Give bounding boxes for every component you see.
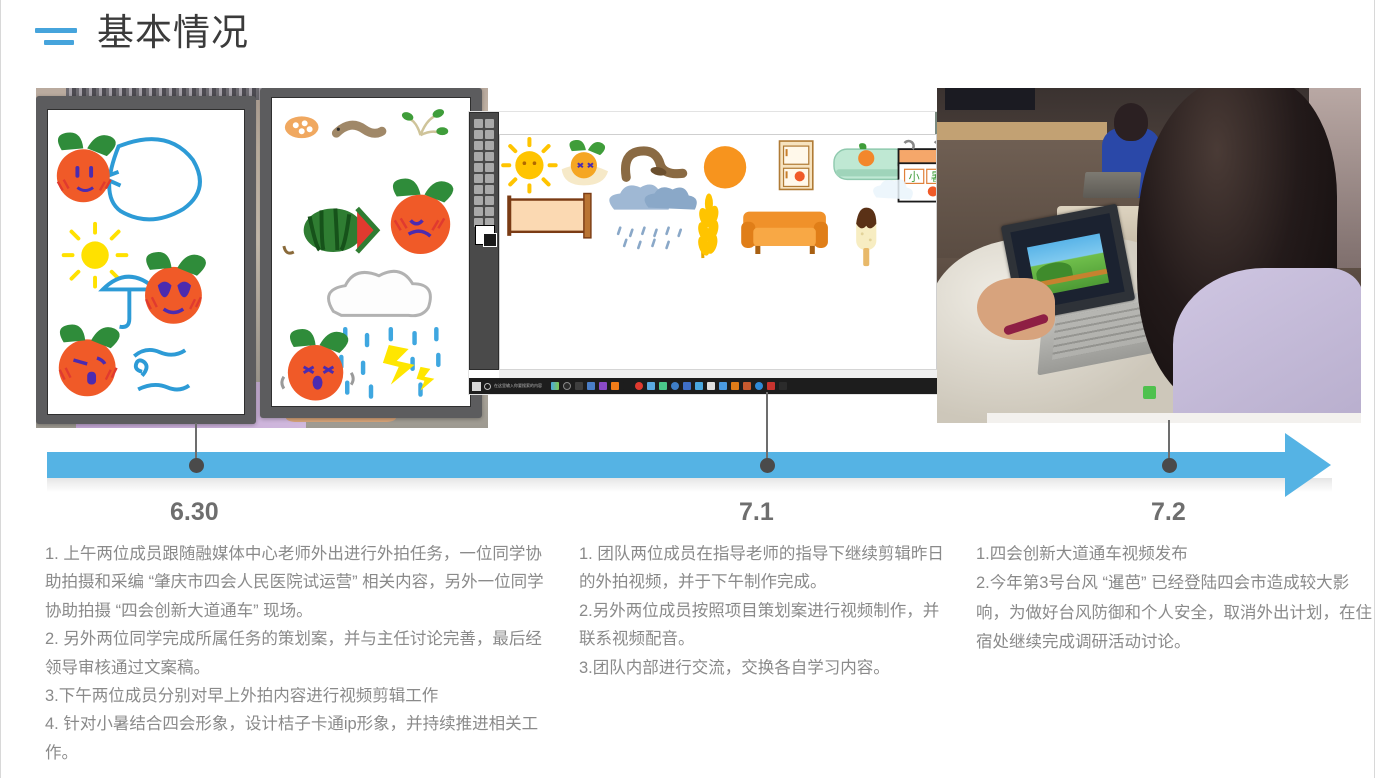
app-icon-record[interactable] [635,382,643,390]
app-status-bar [499,369,937,378]
column-line: 4. 针对小暑结合四会形象，设计桔子卡通ip形象，并持续推进相关工作。 [45,710,557,767]
taskbar-search-placeholder: 在这里输入你要搜索的内容 [494,383,542,389]
taskbar-icons[interactable] [551,382,787,390]
app-icon-media[interactable] [731,382,739,390]
dorm-video-editing-photo [937,88,1361,423]
column-line: 3.下午两位成员分别对早上外拍内容进行视频剪辑工作 [45,682,557,710]
app-icon-mail[interactable] [695,382,703,390]
column-7-2: 7.2 1.四会创新大道通车视频发布 2.今年第3号台风 “暹芭” 已经登陆四会… [976,498,1374,657]
app-icon-word[interactable] [767,382,775,390]
column-body: 1. 上午两位成员跟随融媒体中心老师外出进行外拍任务，一位同学协助拍摄和采编 “… [45,540,557,767]
timeline-stem-1 [195,423,197,465]
column-body: 1.四会创新大道通车视频发布 2.今年第3号台风 “暹芭” 已经登陆四会市造成较… [976,540,1374,657]
column-date-label: 6.30 [45,498,557,527]
media-strip: 小 暑 [1,82,1375,427]
app-icon-cortana[interactable] [563,382,571,390]
timeline-bar [47,452,1287,478]
tablet-illustration-photo [36,88,488,428]
column-7-1: 7.1 1. 团队两位成员在指导老师的指导下继续剪辑昨日的外拍视频，并于下午制作… [579,498,945,682]
column-body: 1. 团队两位成员在指导老师的指导下继续剪辑昨日的外拍视频，并于下午制作完成。 … [579,540,945,682]
column-line: 1. 团队两位成员在指导老师的指导下继续剪辑昨日的外拍视频，并于下午制作完成。 [579,540,945,597]
search-icon [484,383,491,390]
app-icon-taskview[interactable] [575,382,583,390]
slide-page: 基本情况 [0,0,1375,778]
app-icon-y[interactable] [623,382,631,390]
app-icon-editor[interactable] [611,382,619,390]
column-line: 2. 另外两位同学完成所属任务的策划案，并与主任讨论完善，最后经领导审核通过文案… [45,625,557,682]
start-button-icon[interactable] [472,382,481,391]
svg-text:小: 小 [909,170,920,183]
timeline-dot-1[interactable] [189,458,204,473]
app-icon-store[interactable] [599,382,607,390]
page-header: 基本情况 [35,14,249,51]
app-icon-notes[interactable] [719,382,727,390]
graphics-software-screenshot: 小 暑 [469,112,939,394]
app-icon-calendar[interactable] [707,382,715,390]
column-date-label: 7.2 [976,498,1374,527]
app-icon-tool[interactable] [743,382,751,390]
column-line: 2.今年第3号台风 “暹芭” 已经登陆四会市造成较大影响，为做好台风防御和个人安… [976,569,1374,657]
app-icon-social[interactable] [683,382,691,390]
illustration-canvas-left [48,110,244,414]
app-icon-green[interactable] [659,382,667,390]
timeline-arrow-head-icon [1285,433,1331,497]
column-6-30: 6.30 1. 上午两位成员跟随融媒体中心老师外出进行外拍任务，一位同学协助拍摄… [45,498,557,767]
timeline-dot-3[interactable] [1162,458,1177,473]
canvas-artwork: 小 暑 [500,135,936,373]
green-watermark-icon [1143,386,1156,399]
windows-taskbar[interactable]: 在这里输入你要搜索的内容 [469,378,939,394]
timeline-dot-2[interactable] [760,458,775,473]
svg-text:暑: 暑 [931,170,936,183]
page-title: 基本情况 [97,14,249,51]
app-icon-blue[interactable] [647,382,655,390]
app-icon-browser[interactable] [671,382,679,390]
column-date-label: 7.1 [579,498,945,527]
column-line: 2.另外两位成员按照项目策划案进行视频制作，并联系视频配音。 [579,597,945,654]
column-line: 3.团队内部进行交流，交换各自学习内容。 [579,654,945,682]
taskbar-search[interactable]: 在这里输入你要搜索的内容 [484,383,542,390]
column-line: 1.四会创新大道通车视频发布 [976,540,1374,569]
app-icon-other[interactable] [779,382,787,390]
background-color-swatch[interactable] [483,233,497,247]
app-icon-explorer[interactable] [587,382,595,390]
tablet-left [36,96,256,424]
tablet-right [260,88,482,418]
illustration-canvas-right [272,98,470,406]
column-line: 1. 上午两位成员跟随融媒体中心老师外出进行外拍任务，一位同学协助拍摄和采编 “… [45,540,557,625]
app-toolbar[interactable] [469,112,499,370]
app-icon-edge[interactable] [755,382,763,390]
app-canvas[interactable]: 小 暑 [499,134,937,374]
app-icon-gallery[interactable] [551,382,559,390]
hamburger-lines-icon [35,18,79,48]
